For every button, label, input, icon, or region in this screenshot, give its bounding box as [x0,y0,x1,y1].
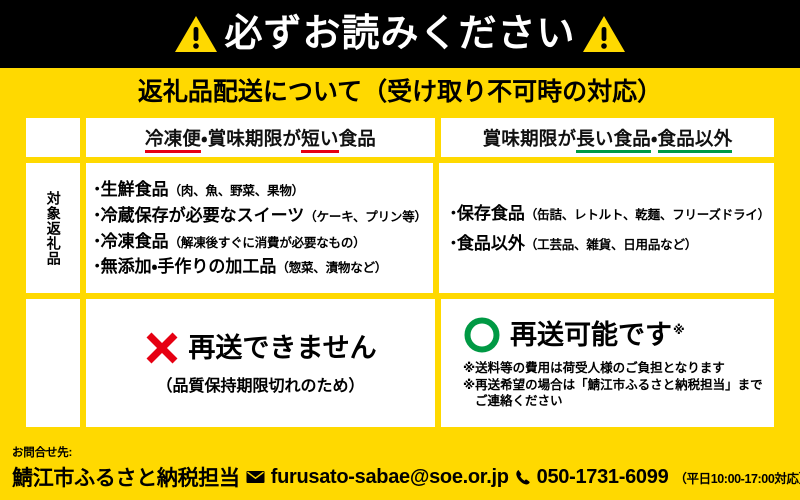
footer-organization: 鯖江市ふるさと納税担当 [12,462,240,492]
list-item-sub: （缶詰、レトルト、乾麺、フリーズドライ） [525,208,770,222]
list-item: •生鮮食品（肉、魚、野菜、果物） [95,181,429,200]
bullet-icon: • [451,204,456,220]
list-item: •冷凍食品（解凍後すぐに消費が必要なもの） [95,233,429,252]
comparison-table: 冷凍便・賞味期限が短い食品 賞味期限が長い食品・食品以外 対象返礼品 •生鮮食品… [20,112,780,433]
resend-note: （品質保持期限切れのため） [156,372,364,396]
list-item: •冷蔵保存が必要なスイーツ（ケーキ、プリン等） [95,207,429,226]
subtitle-text: 返礼品配送について（受け取り不可時の対応） [138,72,662,108]
resend-notes-list: ※送料等の費用は荷受人様のご負担となります ※再送希望の場合は「鯖江市ふるさと納… [463,361,774,410]
list-item: •食品以外（工芸品、雑貨、日用品など） [451,235,770,254]
footer-contact-line: 鯖江市ふるさと納税担当 furusato-sabae@soe.or.jp 050… [12,462,788,492]
column-header-short-shelf-life: 冷凍便・賞味期限が短い食品 [83,115,438,160]
resend-cell-left: 再送できません （品質保持期限切れのため） [83,296,438,430]
items-list-left: •生鮮食品（肉、魚、野菜、果物） •冷蔵保存が必要なスイーツ（ケーキ、プリン等）… [86,163,433,293]
items-cell-right: •保存食品（缶詰、レトルト、乾麺、フリーズドライ） •食品以外（工芸品、雑貨、日… [436,160,777,296]
resend-note-line: ご連絡ください [463,394,774,410]
bullet-icon: • [95,232,100,248]
list-item-sub: （肉、魚、野菜、果物） [169,184,304,198]
header-right-start: 賞味期限が [483,128,577,149]
header-right-sep: ・ [651,128,658,149]
list-item-sub: （ケーキ、プリン等） [304,210,427,224]
resend-headline: 再送できません [188,335,376,362]
header-underline-red-short: 短い [301,128,338,153]
warning-triangle-icon [174,14,218,54]
resend-note-line: ※送料等の費用は荷受人様のご負担となります [463,361,774,377]
envelope-icon [246,470,265,484]
resend-headline-group: 再送可能です※ [463,316,774,354]
green-circle-icon [463,316,501,354]
footer-phone[interactable]: 050-1731-6099 [537,466,669,489]
resend-headline-text: 再送可能です [510,320,672,350]
subtitle-bar: 返礼品配送について（受け取り不可時の対応） [0,68,800,112]
table-corner-cell [23,115,83,160]
header-bar: 必ずお読みください [0,0,800,68]
list-item-main: 冷蔵保存が必要なスイーツ [101,206,305,225]
list-item: •保存食品（缶詰、レトルト、乾麺、フリーズドライ） [451,205,770,224]
row-label-text: 対象返礼品 [45,191,61,266]
table-row: 対象返礼品 •生鮮食品（肉、魚、野菜、果物） •冷蔵保存が必要なスイーツ（ケーキ… [23,160,777,296]
header-underline-red-frozen: 冷凍便 [145,128,201,153]
footer-contact: お問合せ先: 鯖江市ふるさと納税担当 furusato-sabae@soe.or… [0,438,800,500]
resend-headline-mark: ※ [673,323,685,337]
list-item-sub: （惣菜、漬物など） [276,261,387,275]
resend-headline: 再送可能です※ [510,322,685,349]
items-cell-left: •生鮮食品（肉、魚、野菜、果物） •冷蔵保存が必要なスイーツ（ケーキ、プリン等）… [83,160,436,296]
header-left-end: 食品 [339,128,376,149]
list-item-main: 冷凍食品 [101,232,169,251]
header-underline-green-nonfood: 食品以外 [658,128,733,153]
resend-headline-group: 再送できません [144,330,376,366]
resend-status-yes: 再送可能です※ ※送料等の費用は荷受人様のご負担となります ※再送希望の場合は「… [441,299,774,427]
bullet-icon: • [95,180,100,196]
list-item: •無添加・手作りの加工品（惣菜、漬物など） [95,258,429,277]
notice-banner: 必ずお読みください 返礼品配送について（受け取り不可時の対応） 冷凍便・賞味期限… [0,0,800,500]
footer-hours: （平日10:00-17:00対応） [674,468,800,487]
footer-email[interactable]: furusato-sabae@soe.or.jp [271,466,509,489]
bullet-icon: • [451,234,456,250]
row-label-target-items: 対象返礼品 [23,160,83,296]
table-header-row: 冷凍便・賞味期限が短い食品 賞味期限が長い食品・食品以外 [23,115,777,160]
list-item-main: 保存食品 [457,204,525,223]
phone-icon [515,469,531,486]
red-x-icon [144,330,180,366]
column-header-long-shelf-life: 賞味期限が長い食品・食品以外 [438,115,777,160]
warning-triangle-icon [582,14,626,54]
column-header-left-text: 冷凍便・賞味期限が短い食品 [145,125,376,151]
header-left-mid: 賞味期限が [208,128,302,149]
column-header-right-text: 賞味期限が長い食品・食品以外 [483,125,733,151]
list-item-main: 食品以外 [457,234,525,253]
list-item-sub: （解凍後すぐに消費が必要なもの） [169,236,366,250]
bullet-icon: • [95,257,100,273]
table-row: 受け取り 不可時の対応 再送できません （品質 [23,296,777,430]
items-list-right: •保存食品（缶詰、レトルト、乾麺、フリーズドライ） •食品以外（工芸品、雑貨、日… [439,163,774,293]
resend-cell-right: 再送可能です※ ※送料等の費用は荷受人様のご負担となります ※再送希望の場合は「… [438,296,777,430]
resend-note-line: ※再送希望の場合は「鯖江市ふるさと納税担当」まで [463,378,774,394]
row-label-undelivered-response: 受け取り 不可時の対応 [23,296,83,430]
list-item-sub: （工芸品、雑貨、日用品など） [525,238,697,252]
resend-status-no: 再送できません （品質保持期限切れのため） [86,299,435,427]
list-item-main: 無添加・手作りの加工品 [101,257,277,276]
footer-label: お問合せ先: [12,444,788,460]
bullet-icon: • [95,206,100,222]
header-underline-green-long: 長い食品 [576,128,651,153]
list-item-main: 生鮮食品 [101,180,169,199]
page-title: 必ずお読みください [224,15,575,53]
